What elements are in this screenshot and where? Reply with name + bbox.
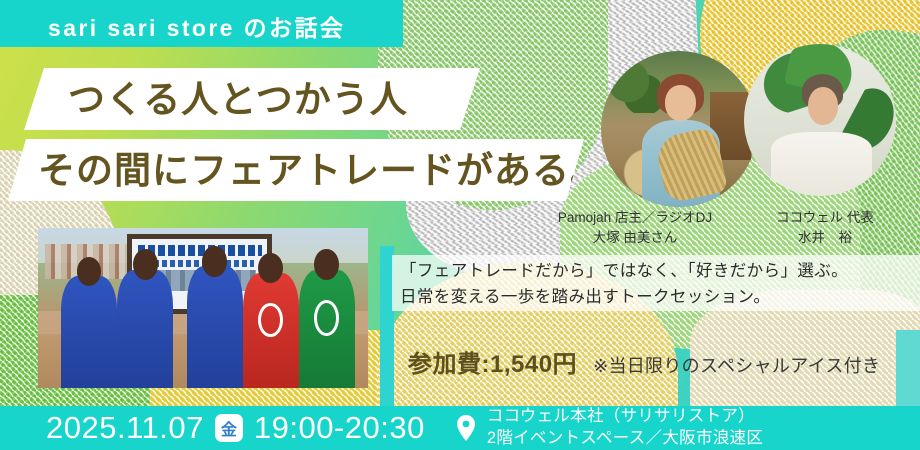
- woman-portrait-image: [601, 51, 757, 207]
- event-date: 2025.11.07: [46, 410, 204, 446]
- photo-person-5: [299, 270, 355, 388]
- speaker-photo-mizui: [744, 44, 896, 196]
- speaker-role-2: ココウェル 代表: [730, 208, 920, 228]
- footer-bar: 2025.11.07 金 19:00-20:30 ココウェル本社（サリサリストア…: [0, 406, 920, 450]
- venue-line-2: 2階イベントスペース／大阪市浪速区: [487, 428, 763, 450]
- event-flyer: sari sari store のお話会 つくる人とつかう人 その間にフェアトレ…: [0, 0, 920, 450]
- speaker-captions: Pamojah 店主／ラジオDJ 大塚 由美さん ココウェル 代表 水井 裕: [540, 208, 920, 247]
- description-line-2: 日常を変える一歩を踏み出すトークセッション。: [400, 284, 920, 310]
- tshirt-logo: [314, 300, 339, 336]
- tshirt-logo: [258, 303, 283, 338]
- day-of-week-badge: 金: [215, 414, 243, 442]
- man-portrait-image: [744, 44, 896, 196]
- title-line-2: その間にフェアトレードがある。: [38, 152, 608, 189]
- person-head: [202, 246, 227, 278]
- venue-line-1: ココウェル本社（サリサリストア）: [487, 406, 763, 428]
- speaker-caption-1: Pamojah 店主／ラジオDJ 大塚 由美さん: [540, 208, 730, 247]
- background-shape-teal-right: [896, 330, 920, 410]
- speaker-role-1: Pamojah 店主／ラジオDJ: [540, 208, 730, 228]
- speaker-name-1: 大塚 由美さん: [540, 228, 730, 248]
- description-line-1: 「フェアトレードだから」ではなく、「好きだから」選ぶ。: [400, 258, 920, 284]
- event-time: 19:00-20:30: [254, 410, 425, 446]
- photo-person-4: [243, 273, 299, 388]
- location-pin-icon: [455, 414, 477, 442]
- person-head: [258, 253, 283, 283]
- signboard-title-text: [138, 245, 262, 256]
- face-shape: [808, 87, 838, 125]
- face-shape: [665, 85, 696, 121]
- group-photo: [38, 228, 368, 388]
- person-head: [133, 249, 158, 280]
- speaker-name-2: 水井 裕: [730, 228, 920, 248]
- plant-decor: [607, 60, 660, 113]
- fee-row: 参加費:1,540円 ※当日限りのスペシャルアイス付き: [408, 344, 880, 379]
- person-head: [77, 257, 102, 286]
- photo-person-2: [117, 270, 173, 388]
- header-title: sari sari store のお話会: [48, 9, 345, 43]
- title-band-1: つくる人とつかう人: [24, 68, 480, 130]
- venue-address: ココウェル本社（サリサリストア） 2階イベントスペース／大阪市浪速区: [487, 406, 763, 450]
- title-band-2: その間にフェアトレードがある。: [8, 139, 584, 201]
- shirt-shape: [771, 132, 871, 196]
- photo-person-1: [61, 276, 117, 388]
- speaker-caption-2: ココウェル 代表 水井 裕: [730, 208, 920, 247]
- title-line-1: つくる人とつかう人: [68, 81, 408, 118]
- fee-note: ※当日限りのスペシャルアイス付き: [593, 352, 880, 378]
- person-head: [314, 249, 339, 280]
- fee-amount: 参加費:1,540円: [408, 344, 577, 379]
- speaker-photo-otsuka: [601, 51, 757, 207]
- description-text: 「フェアトレードだから」ではなく、「好きだから」選ぶ。 日常を変える一歩を踏み出…: [400, 258, 920, 311]
- photo-person-3: [187, 266, 243, 388]
